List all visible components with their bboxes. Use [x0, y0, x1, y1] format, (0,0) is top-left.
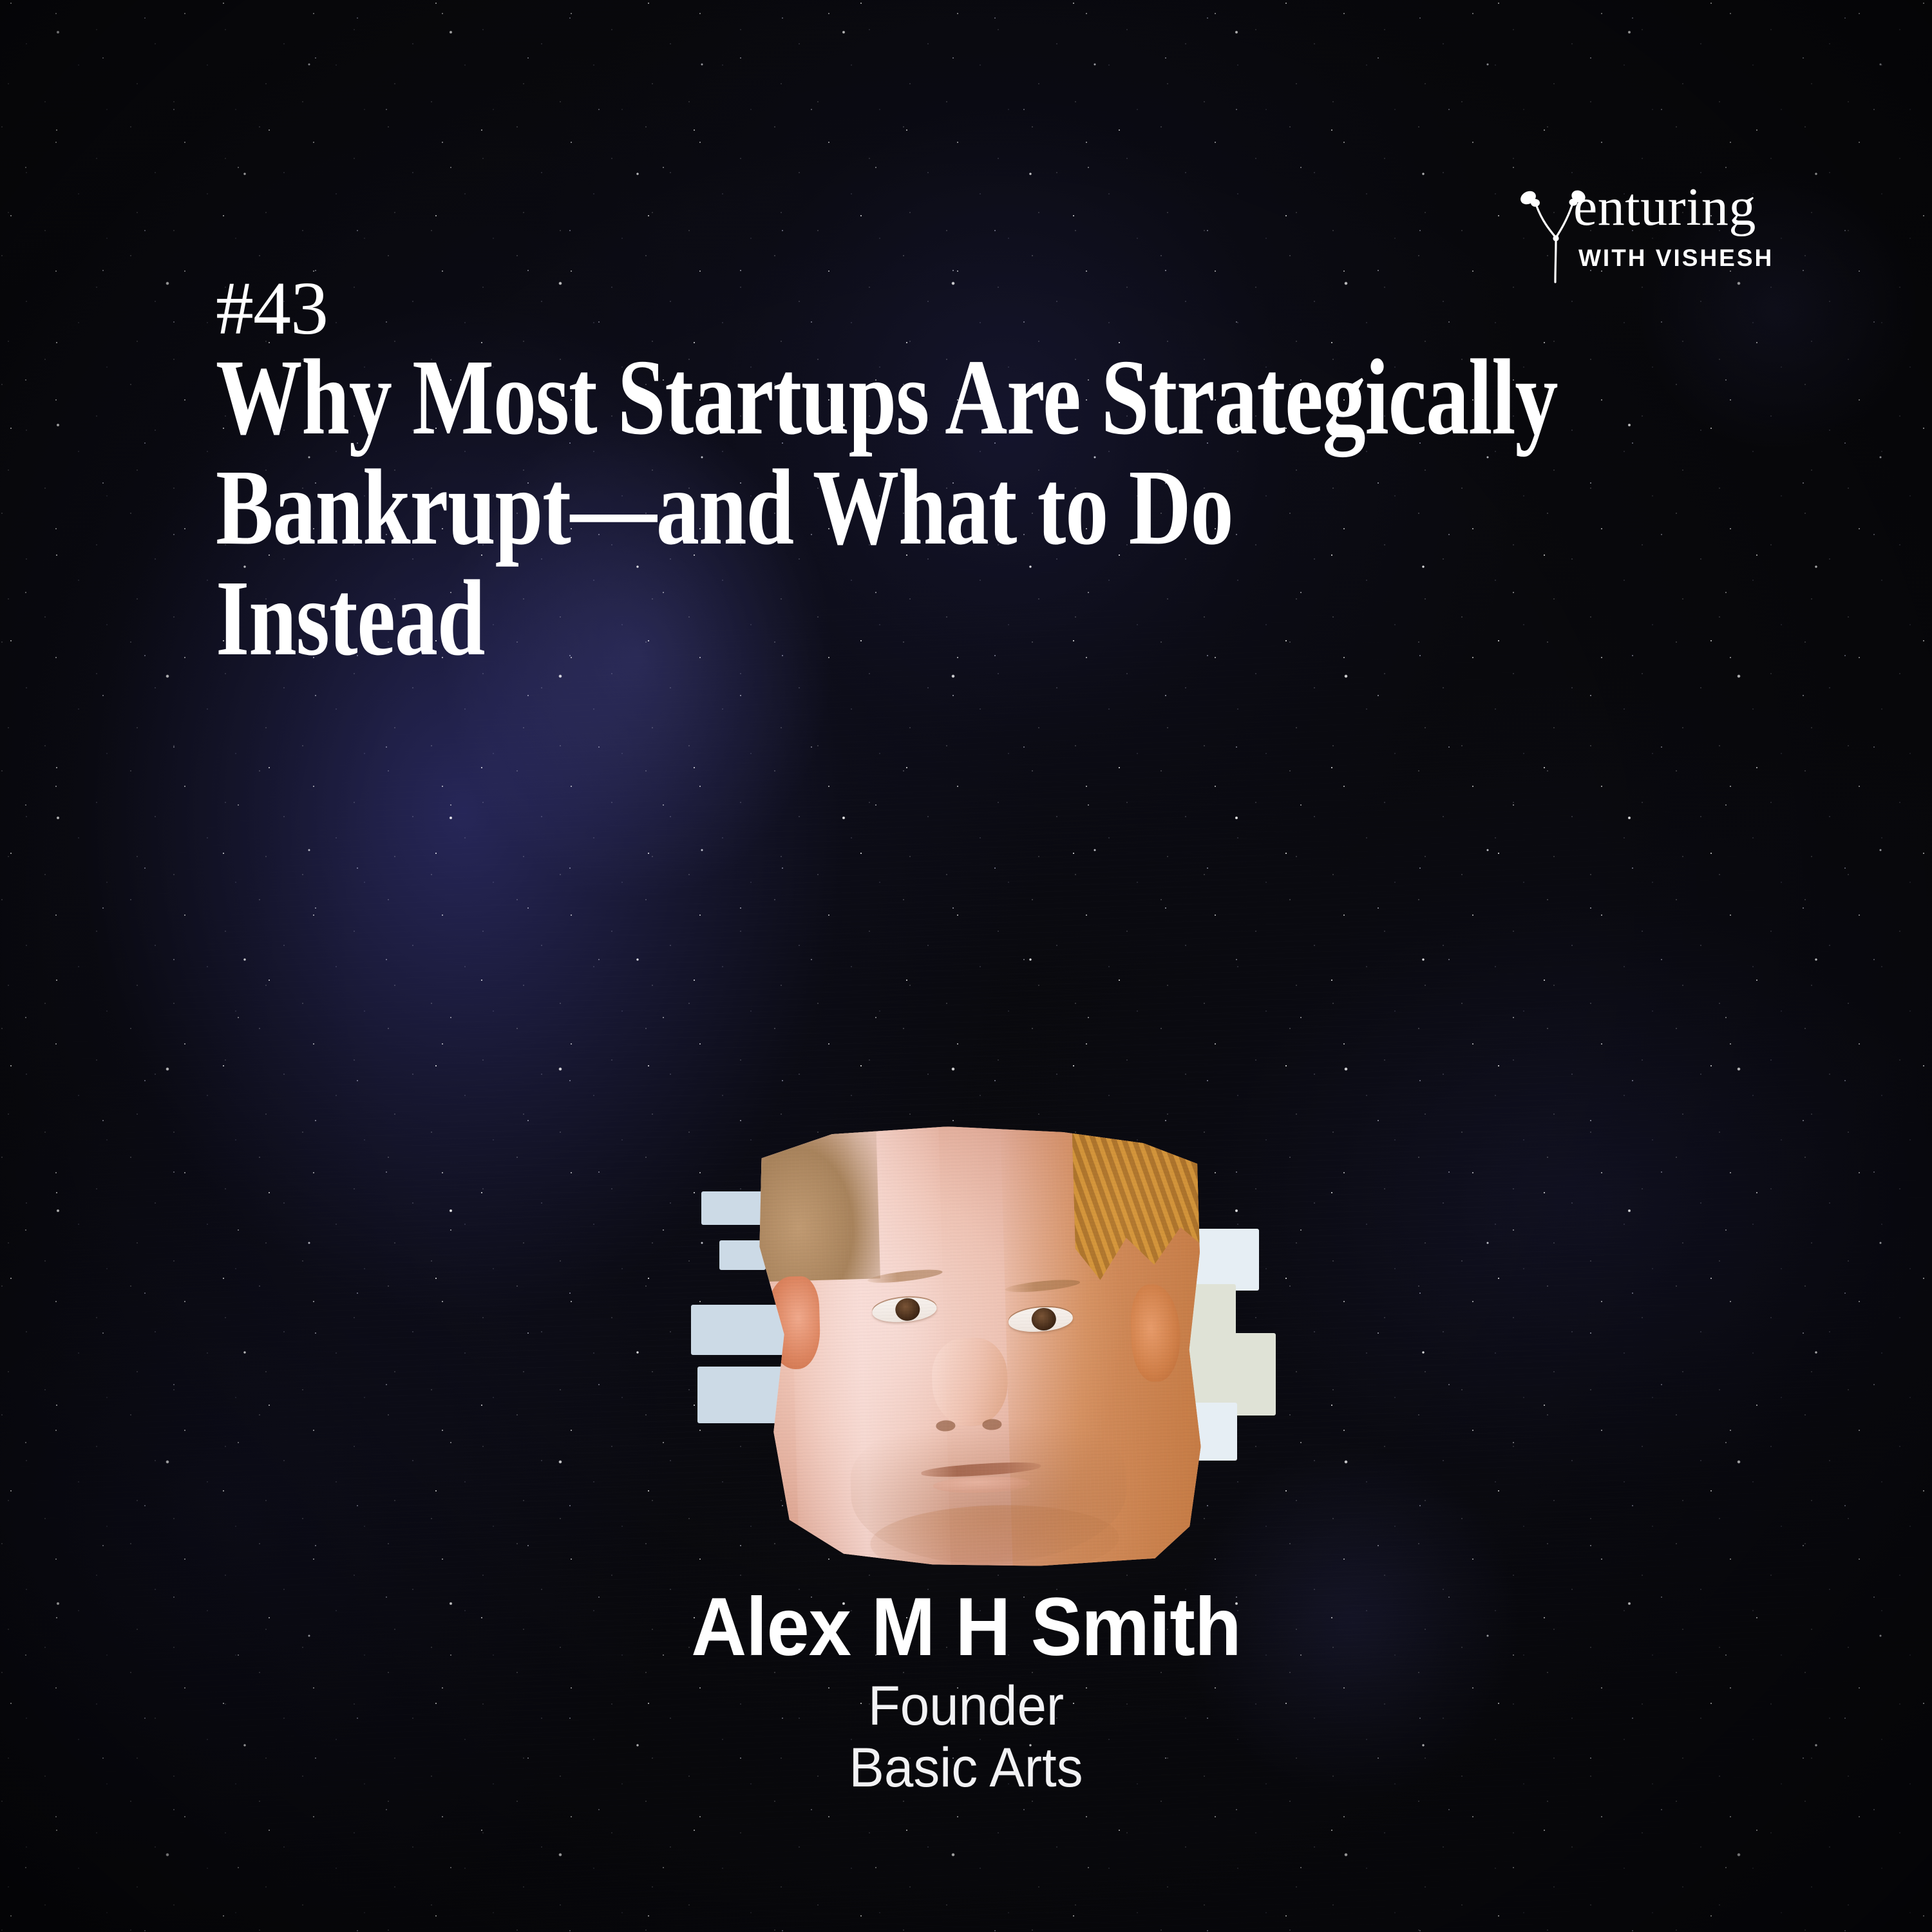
- guest-company: Basic Arts: [48, 1737, 1884, 1799]
- episode-title-line-1: Why Most Startups Are Strategically: [216, 343, 1875, 453]
- episode-title-line-2: Bankrupt—and What to Do: [216, 453, 1875, 563]
- episode-title-line-3: Instead: [216, 563, 1875, 674]
- podcast-cover-artwork: enturing WITH VISHESH #43 Why Most Start…: [0, 0, 1932, 1932]
- episode-title-block: #43 Why Most Startups Are Strategically …: [216, 270, 1890, 674]
- episode-title: Why Most Startups Are Strategically Bank…: [216, 343, 1875, 674]
- photo-grain-texture: [752, 1120, 1209, 1574]
- paper-fragment-left-4: [719, 1240, 766, 1270]
- episode-number: #43: [216, 270, 1890, 346]
- guest-photo-inner: [752, 1120, 1209, 1574]
- paper-fragment-left-3: [697, 1367, 784, 1423]
- paper-fragment-left-2: [691, 1305, 788, 1355]
- guest-portrait: [686, 1121, 1285, 1578]
- guest-photo: [752, 1120, 1209, 1574]
- guest-role: Founder: [48, 1675, 1884, 1737]
- logo-wordmark: enturing: [1573, 180, 1756, 234]
- logo-tagline: WITH VISHESH: [1578, 245, 1774, 272]
- guest-name: Alex M H Smith: [68, 1584, 1864, 1670]
- guest-credit-block: Alex M H Smith Founder Basic Arts: [0, 1584, 1932, 1799]
